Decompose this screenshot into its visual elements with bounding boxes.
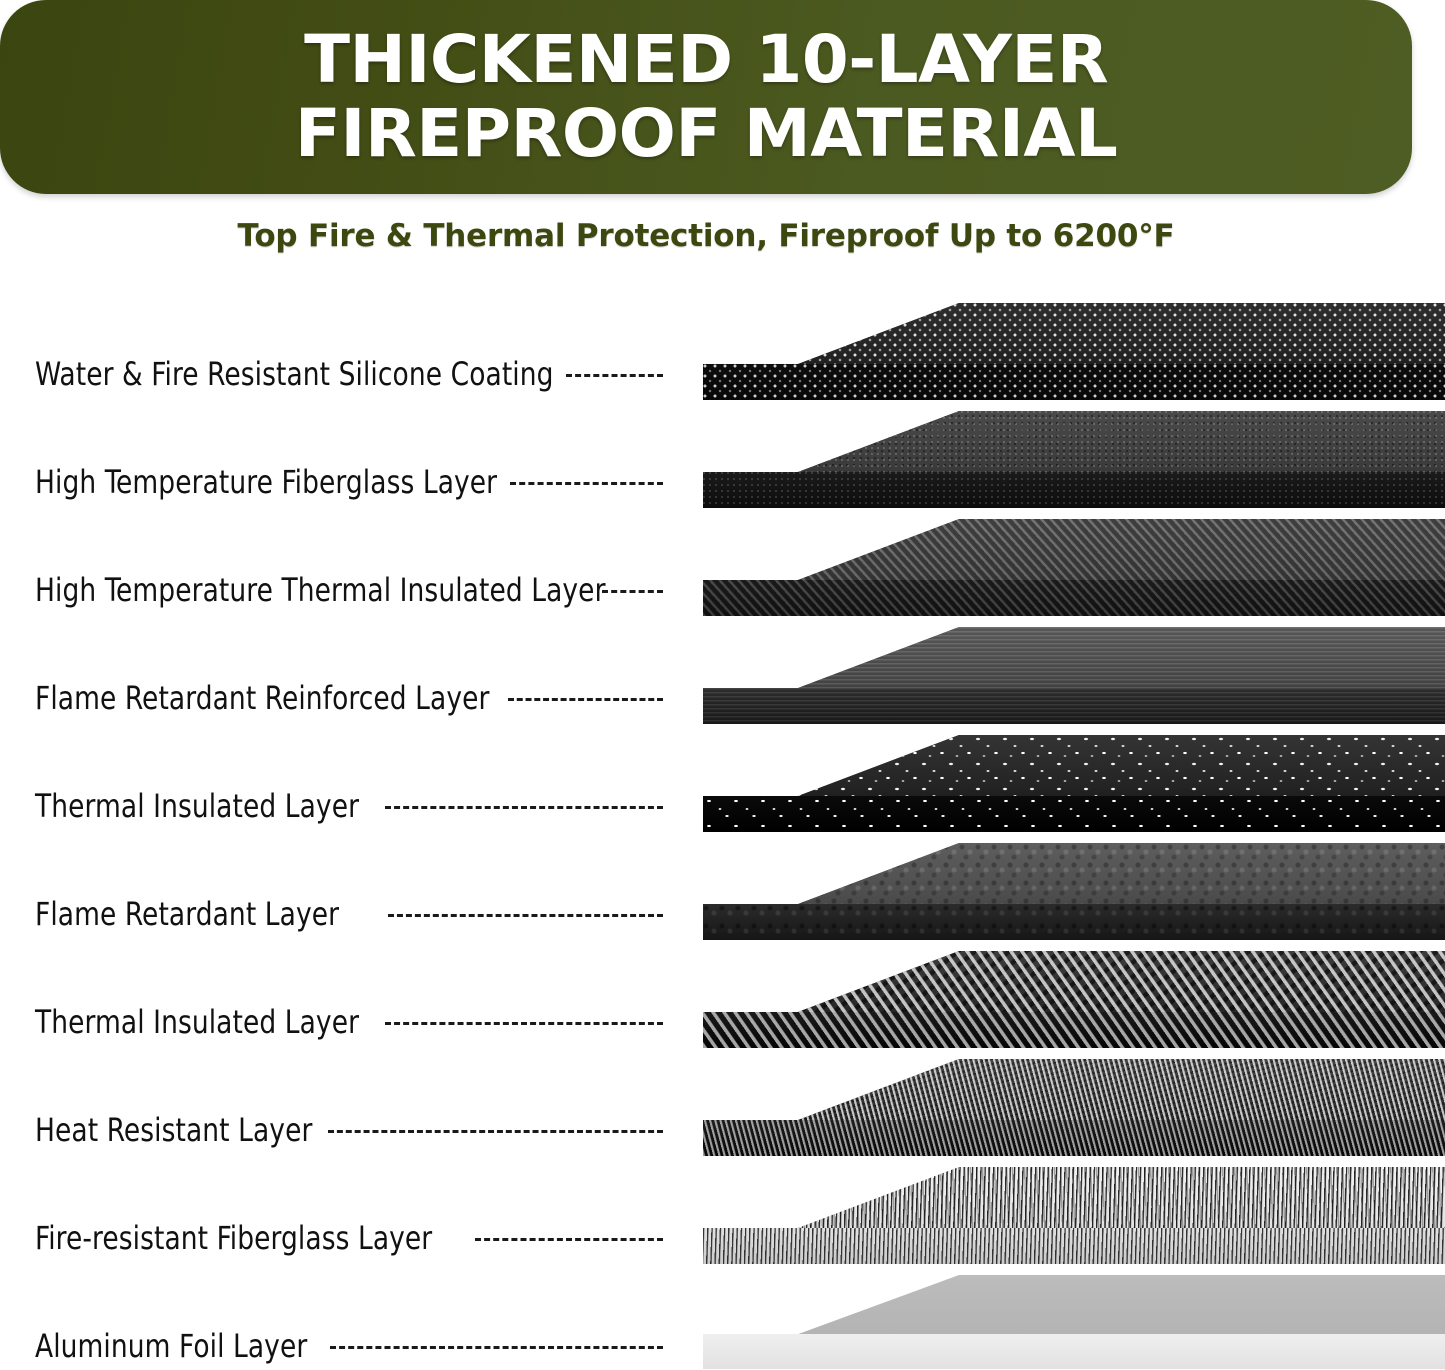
slab-front-edge bbox=[703, 364, 1445, 400]
leader-dash-line bbox=[385, 806, 663, 809]
layer-label-wrap: Flame Retardant Reinforced Layer bbox=[35, 674, 529, 722]
layer-label: Flame Retardant Reinforced Layer bbox=[35, 679, 489, 717]
layer-slab bbox=[703, 1059, 1445, 1156]
layer-slab bbox=[703, 411, 1445, 508]
leader-dash-line bbox=[602, 590, 663, 593]
layer-label-wrap: Flame Retardant Layer bbox=[35, 890, 366, 938]
slab-front-edge bbox=[703, 472, 1445, 508]
layer-label-wrap: Thermal Insulated Layer bbox=[35, 998, 387, 1046]
slab-front-edge bbox=[703, 580, 1445, 616]
slab-front-edge bbox=[703, 1228, 1445, 1264]
layer-slab bbox=[703, 1167, 1445, 1264]
leader-dash-line bbox=[388, 914, 663, 917]
slab-front-edge bbox=[703, 1012, 1445, 1048]
layer-label-wrap: Heat Resistant Layer bbox=[35, 1106, 337, 1154]
layer-slab bbox=[703, 627, 1445, 724]
layer-label-wrap: Thermal Insulated Layer bbox=[35, 782, 387, 830]
layer-label: Fire-resistant Fiberglass Layer bbox=[35, 1219, 432, 1257]
layer-row: Thermal Insulated Layer bbox=[0, 938, 1445, 1048]
layer-label: Water & Fire Resistant Silicone Coating bbox=[35, 355, 554, 393]
layer-label-wrap: Water & Fire Resistant Silicone Coating bbox=[35, 350, 599, 398]
layer-label-wrap: High Temperature Fiberglass Layer bbox=[35, 458, 537, 506]
layer-row: Flame Retardant Reinforced Layer bbox=[0, 614, 1445, 724]
layer-label: Flame Retardant Layer bbox=[35, 895, 339, 933]
leader-dash-line bbox=[330, 1346, 663, 1349]
layer-slab bbox=[703, 303, 1445, 400]
layer-label: Heat Resistant Layer bbox=[35, 1111, 312, 1149]
leader-dash-line bbox=[328, 1130, 663, 1133]
layer-row: High Temperature Fiberglass Layer bbox=[0, 398, 1445, 508]
subtitle-text: Top Fire & Thermal Protection, Fireproof… bbox=[0, 218, 1412, 254]
banner-title-line-2: FIREPROOF MATERIAL bbox=[295, 98, 1117, 170]
layer-label-wrap: Fire-resistant Fiberglass Layer bbox=[35, 1214, 467, 1262]
layer-label: Thermal Insulated Layer bbox=[35, 1003, 359, 1041]
slab-front-edge bbox=[703, 1120, 1445, 1156]
layer-label: High Temperature Fiberglass Layer bbox=[35, 463, 497, 501]
layer-slab bbox=[703, 735, 1445, 832]
layer-row: High Temperature Thermal Insulated Layer bbox=[0, 506, 1445, 616]
leader-dash-line bbox=[508, 698, 663, 701]
leader-dash-line bbox=[385, 1022, 663, 1025]
layer-diagram: Water & Fire Resistant Silicone Coating … bbox=[0, 290, 1445, 1369]
layer-slab bbox=[703, 519, 1445, 616]
slab-front-edge bbox=[703, 688, 1445, 724]
leader-dash-line bbox=[510, 482, 663, 485]
layer-row: Fire-resistant Fiberglass Layer bbox=[0, 1154, 1445, 1264]
layer-slab bbox=[703, 1275, 1445, 1369]
layer-row: Water & Fire Resistant Silicone Coating bbox=[0, 290, 1445, 400]
layer-label: Thermal Insulated Layer bbox=[35, 787, 359, 825]
layer-label: High Temperature Thermal Insulated Layer bbox=[35, 571, 606, 609]
layer-row: Heat Resistant Layer bbox=[0, 1046, 1445, 1156]
layer-row: Aluminum Foil Layer bbox=[0, 1262, 1445, 1369]
layer-label: Aluminum Foil Layer bbox=[35, 1327, 307, 1365]
slab-front-edge bbox=[703, 904, 1445, 940]
slab-front-edge bbox=[703, 1334, 1445, 1369]
leader-dash-line bbox=[475, 1238, 663, 1241]
layer-row: Flame Retardant Layer bbox=[0, 830, 1445, 940]
slab-front-edge bbox=[703, 796, 1445, 832]
layer-label-wrap: Aluminum Foil Layer bbox=[35, 1322, 331, 1370]
header-banner: THICKENED 10-LAYER FIREPROOF MATERIAL bbox=[0, 0, 1412, 194]
layer-slab bbox=[703, 843, 1445, 940]
banner-title-line-1: THICKENED 10-LAYER bbox=[304, 24, 1108, 96]
leader-dash-line bbox=[566, 374, 663, 377]
layer-label-wrap: High Temperature Thermal Insulated Layer bbox=[35, 566, 655, 614]
layer-slab bbox=[703, 951, 1445, 1048]
layer-row: Thermal Insulated Layer bbox=[0, 722, 1445, 832]
